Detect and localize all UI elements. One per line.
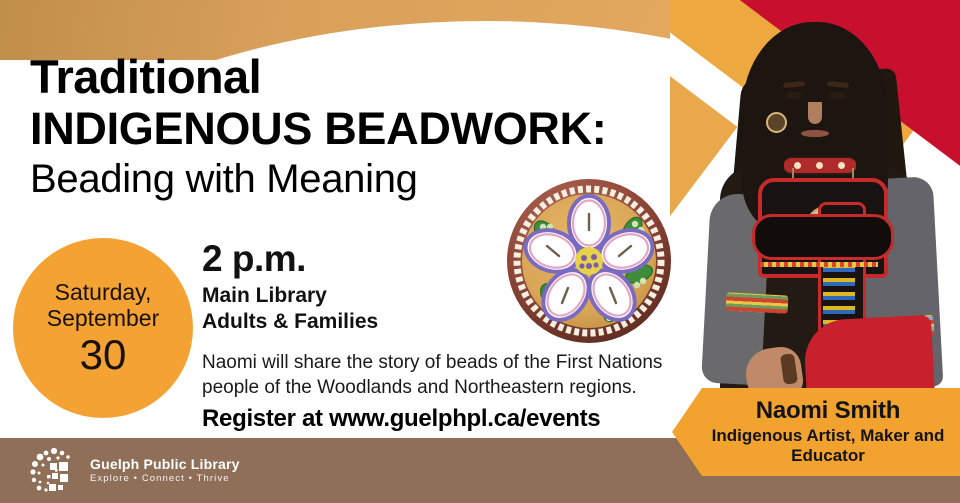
registration-link[interactable]: Register at www.guelphpl.ca/events: [202, 405, 600, 433]
speaker-name: Naomi Smith: [756, 398, 900, 424]
speaker-portrait-figure: [684, 18, 942, 440]
date-day-of-week: Saturday,: [55, 280, 152, 306]
beadwork-trim-chest: [760, 262, 878, 267]
date-badge: Saturday, September 30: [13, 238, 193, 418]
nose: [808, 102, 822, 124]
date-day-number: 30: [80, 334, 127, 376]
library-logo[interactable]: Guelph Public Library Explore • Connect …: [28, 446, 240, 496]
event-description: Naomi will share the story of beads of t…: [202, 350, 722, 400]
event-audience: Adults & Families: [202, 309, 502, 335]
speaker-banner: Naomi Smith Indigenous Artist, Maker and…: [672, 388, 960, 476]
beadwork-medallion: [506, 178, 672, 344]
title-line-1: Traditional: [30, 52, 607, 102]
library-name: Guelph Public Library: [90, 456, 240, 472]
regalia-collar-flap: [752, 214, 894, 260]
event-venue: Main Library: [202, 283, 502, 309]
guelph-library-logo-icon: [28, 446, 78, 496]
library-logo-text: Guelph Public Library Explore • Connect …: [90, 456, 240, 485]
beadwork-trim-left-sleeve: [726, 292, 789, 313]
title-line-2: INDIGENOUS BEADWORK:: [30, 104, 607, 154]
mouth: [801, 130, 829, 137]
event-poster: Traditional INDIGENOUS BEADWORK: Beading…: [0, 0, 960, 503]
library-tagline: Explore • Connect • Thrive: [90, 473, 240, 485]
event-time: 2 p.m.: [202, 240, 502, 277]
date-month: September: [47, 306, 160, 332]
speaker-role: Indigenous Artist, Maker and Educator: [696, 426, 960, 466]
eye-right: [829, 92, 845, 99]
beadwork-medallion-graphic: [506, 178, 672, 344]
event-details: 2 p.m. Main Library Adults & Families: [202, 240, 502, 335]
earring: [766, 112, 787, 133]
eye-left: [786, 92, 802, 99]
